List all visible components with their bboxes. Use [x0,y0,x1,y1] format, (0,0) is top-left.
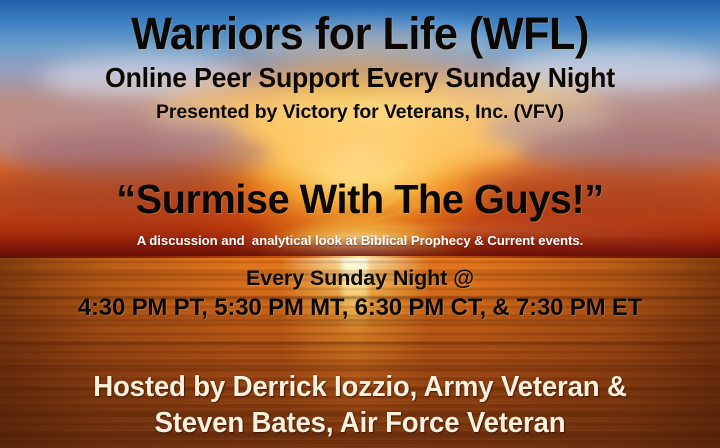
hosts-line-two: Steven Bates, Air Force Veteran [11,409,709,438]
schedule-label: Every Sunday Night @ [0,268,720,290]
organization-subtitle: Online Peer Support Every Sunday Night [11,64,709,92]
flyer-text-content: Warriors for Life (WFL) Online Peer Supp… [0,0,720,448]
schedule-times: 4:30 PM PT, 5:30 PM MT, 6:30 PM CT, & 7:… [7,296,713,321]
topic-description: A discussion and analytical look at Bibl… [0,234,720,247]
topic-headline: “Surmise With The Guys!” [11,179,709,220]
wfl-event-flyer: Warriors for Life (WFL) Online Peer Supp… [0,0,720,448]
organization-title: Warriors for Life (WFL) [14,11,705,56]
hosts-line-one: Hosted by Derrick Iozzio, Army Veteran & [11,373,709,402]
presenter-credit: Presented by Victory for Veterans, Inc. … [0,103,720,123]
